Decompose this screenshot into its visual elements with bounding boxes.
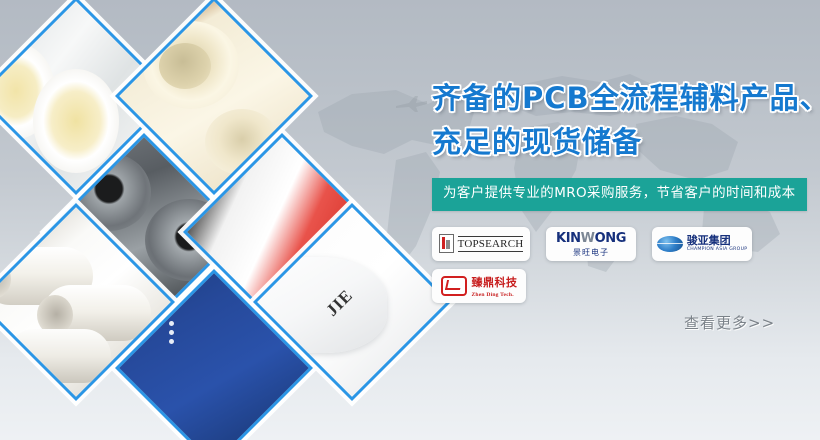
board-dots: [161, 317, 174, 344]
globe-icon: [657, 236, 683, 252]
client-logo-grid: TOPSEARCH KINWONG 景旺电子 骏亚集团 CHAMPION ASI: [432, 227, 808, 303]
champion-asia-label: 骏亚集团: [687, 235, 748, 246]
banner-content: 齐备的PCB全流程辅料产品、 充足的现货储备 为客户提供专业的MRO采购服务，节…: [432, 76, 808, 303]
headline-line-1: 齐备的PCB全流程辅料产品、: [432, 76, 808, 120]
airplane-icon: [395, 95, 429, 113]
promo-banner: JIE 齐备的PCB全流程辅料产品、 充足的现货储备 为客户提供专业的MRO采购…: [0, 0, 820, 440]
logo-kinwong[interactable]: KINWONG 景旺电子: [546, 227, 636, 261]
logo-champion-asia[interactable]: 骏亚集团 CHAMPION ASIA GROUP: [652, 227, 752, 261]
kinwong-label: KINWONG: [556, 231, 626, 246]
kinwong-sublabel: 景旺电子: [556, 249, 626, 257]
headline-line-2: 充足的现货储备: [432, 120, 808, 164]
subtitle-bar: 为客户提供专业的MRO采购服务，节省客户的时间和成本: [432, 178, 807, 211]
logo-topsearch[interactable]: TOPSEARCH: [432, 227, 530, 261]
zhending-label: 臻鼎科技: [472, 274, 518, 290]
product-collage: JIE: [0, 0, 382, 440]
topsearch-mark-icon: [439, 234, 454, 253]
topsearch-label: TOPSEARCH: [458, 236, 524, 252]
client-logo-row-2: 臻鼎科技 Zhen Ding Tech.: [432, 269, 808, 303]
zhending-mark-icon: [441, 276, 467, 296]
view-more-link[interactable]: 查看更多>>: [684, 312, 775, 333]
zhending-sublabel: Zhen Ding Tech.: [472, 292, 518, 298]
champion-asia-sublabel: CHAMPION ASIA GROUP: [687, 248, 748, 253]
logo-zhen-ding[interactable]: 臻鼎科技 Zhen Ding Tech.: [432, 269, 526, 303]
client-logo-row-1: TOPSEARCH KINWONG 景旺电子 骏亚集团 CHAMPION ASI: [432, 227, 808, 261]
